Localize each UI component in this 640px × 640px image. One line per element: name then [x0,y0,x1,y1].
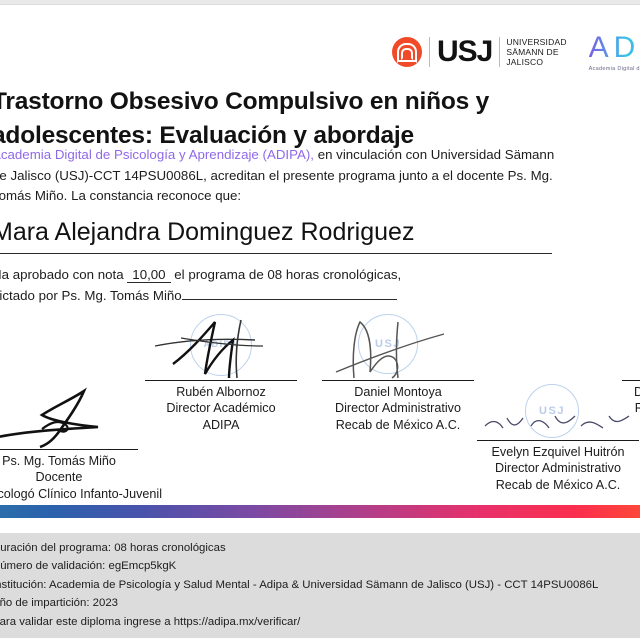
certificate-title: Trastorno Obsesivo Compulsivo en niños y… [0,85,592,153]
grade-teacher: dictado por Ps. Mg. Tomás Miño [0,288,182,303]
signature-role: Docente [0,469,138,485]
certificate-page: USJ UNIVERSIDAD SÄMANN DE JALISCO ADIPA … [0,0,640,640]
signature-role: Director Administrativo [622,384,640,400]
signature-org: Recab de México A.C. [622,400,640,416]
usj-seal-icon: USJ [358,314,418,374]
signature-block-ruben-albornoz: ADIPA Rubén Albornoz Director Académico … [145,380,297,433]
signature-name: Ps. Mg. Tomás Miño [0,453,138,469]
grade-teacher-rule [182,299,397,300]
logo-row: USJ UNIVERSIDAD SÄMANN DE JALISCO ADIPA … [392,23,640,81]
footer-verify-url[interactable]: Para validar este diploma ingrese a http… [0,613,640,631]
student-name: Mara Alejandra Dominguez Rodriguez [0,217,552,254]
usj-wordmark: USJ [429,37,492,67]
footer-validation-code: Número de validación: egEmcp5kgK [0,557,640,575]
handwritten-signature-icon [477,396,639,440]
usj-subtitle: UNIVERSIDAD SÄMANN DE JALISCO [499,37,566,68]
signature-role: Director Administrativo [477,460,639,476]
signature-role: Director Académico [145,400,297,416]
signature-rule [477,440,639,441]
brand-gradient-bar [0,505,640,518]
handwritten-signature-icon [322,316,474,380]
grade-statement: Ha aprobado con nota 10,00 el programa d… [0,264,592,307]
usj-emblem-icon [392,37,422,67]
signature-rule [0,449,138,450]
adipa-subtitle: Academia Digital de Psicología y Aprendi… [589,66,640,72]
adipa-wordmark: ADIPA [589,33,640,63]
usj-emblem-bar [398,60,417,63]
signature-rule [322,380,474,381]
signature-org: Psicologó Clínico Infanto-Juvenil [0,486,138,502]
signature-name: Rubén Albornoz [145,384,297,400]
certificate-document: USJ UNIVERSIDAD SÄMANN DE JALISCO ADIPA … [0,5,640,640]
footer-duration: Duración del programa: 08 horas cronológ… [0,539,640,557]
signature-block-daniel-montoya: USJ Daniel Montoya Director Administrati… [322,380,474,433]
footer-year: Año de impartición: 2023 [0,594,640,612]
signature-role: Director Administrativo [322,400,474,416]
handwritten-signature-icon [145,316,297,380]
signature-org: Recab de México A.C. [477,477,639,493]
seal-line-1: ADIPA [204,339,239,351]
footer-institution: Institución: Academia de Psicología y Sa… [0,576,640,594]
signature-rule [622,380,640,381]
signature-block-clipped-right: Director Administrativo Recab de México … [622,380,640,417]
signature-block-tomas-mino: Ps. Mg. Tomás Miño Docente Psicologó Clí… [0,449,138,502]
signature-org: Recab de México A.C. [322,417,474,433]
usj-logo: USJ UNIVERSIDAD SÄMANN DE JALISCO [392,37,567,68]
adipa-seal-icon: ADIPA [190,314,252,376]
signature-block-evelyn-ezquivel: USJ Evelyn Ezquivel Huitrón Director Adm… [477,440,639,493]
handwritten-signature-icon [0,385,138,449]
grade-value: 10,00 [127,267,170,283]
certificate-intro: Academia Digital de Psicología y Aprendi… [0,145,572,207]
grade-prefix: Ha aprobado con nota [0,267,124,282]
usj-seal-icon: USJ [525,384,579,438]
seal-line-1: USJ [375,337,401,351]
adipa-logo: ADIPA Academia Digital de Psicología y A… [589,33,640,72]
signature-name: Daniel Montoya [322,384,474,400]
signature-rule [145,380,297,381]
signature-name: Evelyn Ezquivel Huitrón [477,444,639,460]
grade-middle: el programa de 08 horas cronológicas, [174,267,401,282]
certificate-footer: Duración del programa: 08 horas cronológ… [0,533,640,638]
signature-org: ADIPA [145,417,297,433]
seal-line-1: USJ [539,404,565,418]
intro-brand-text: Academia Digital de Psicología y Aprendi… [0,147,314,162]
